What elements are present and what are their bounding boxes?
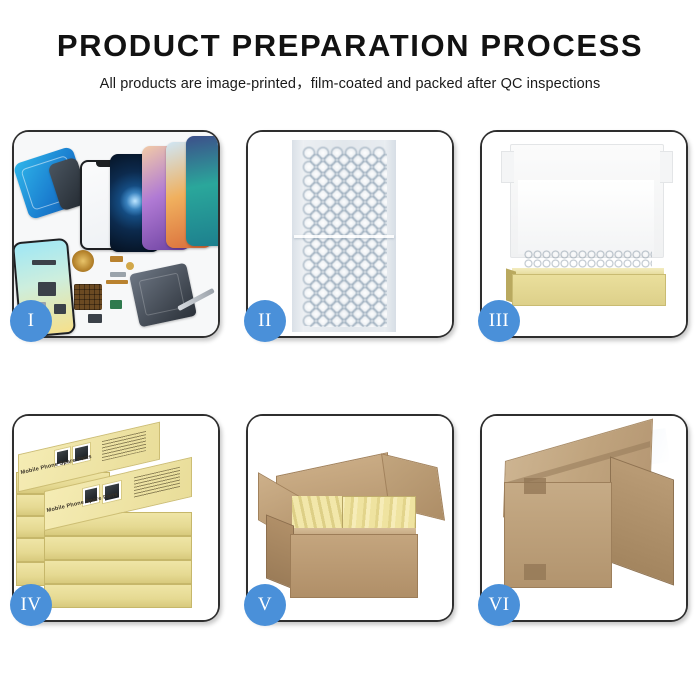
- process-step-panel-4[interactable]: Mobile Phone Spare Parts Mobile Phone Sp…: [12, 414, 220, 622]
- sealed-carton-front-face: [504, 482, 612, 588]
- carton-tape-upper: [524, 478, 546, 494]
- step-badge-5: V: [244, 584, 286, 626]
- process-step-panel-5[interactable]: V: [246, 414, 454, 622]
- page-header: PRODUCT PREPARATION PROCESS All products…: [0, 0, 700, 93]
- page-subtitle: All products are image-printed，film-coat…: [0, 72, 700, 93]
- stacked-box: [44, 584, 192, 608]
- small-part-flex: [38, 282, 56, 296]
- small-part-cable: [106, 280, 128, 284]
- step-badge-6: VI: [478, 584, 520, 626]
- process-step-panel-6[interactable]: VI: [480, 414, 688, 622]
- page-title: PRODUCT PREPARATION PROCESS: [0, 30, 700, 63]
- small-part-silver: [110, 272, 126, 277]
- carton-front-face: [290, 534, 418, 598]
- small-part-board: [110, 300, 122, 309]
- stacked-box: [44, 560, 192, 584]
- step-badge-3: III: [478, 300, 520, 342]
- small-part-copper: [110, 256, 123, 262]
- process-step-grid: I II III: [12, 130, 688, 622]
- bubble-wrap-seam: [294, 235, 394, 238]
- step-badge-2: II: [244, 300, 286, 342]
- speaker-coil-part: [72, 250, 94, 272]
- sealed-carton-side-face: [610, 456, 674, 585]
- small-part-button: [88, 314, 102, 323]
- process-step-panel-1[interactable]: I: [12, 130, 220, 338]
- inner-box-front-yellow: [512, 274, 666, 306]
- small-part-strip: [32, 260, 56, 265]
- bubble-wrap-bubbles-overlay: [309, 153, 387, 327]
- small-part-gold: [126, 262, 134, 270]
- carton-tape-lower: [524, 564, 546, 580]
- stacked-box: [44, 536, 192, 560]
- phone-display-teal: [186, 136, 218, 246]
- step-badge-4: IV: [10, 584, 52, 626]
- small-part-bracket: [54, 304, 66, 314]
- process-step-panel-2[interactable]: II: [246, 130, 454, 338]
- connector-pad-part: [74, 284, 102, 310]
- phone-logic-board: [129, 263, 197, 328]
- process-step-panel-3[interactable]: III: [480, 130, 688, 338]
- step-badge-1: I: [10, 300, 52, 342]
- inner-box-foam-sheet: [518, 180, 654, 254]
